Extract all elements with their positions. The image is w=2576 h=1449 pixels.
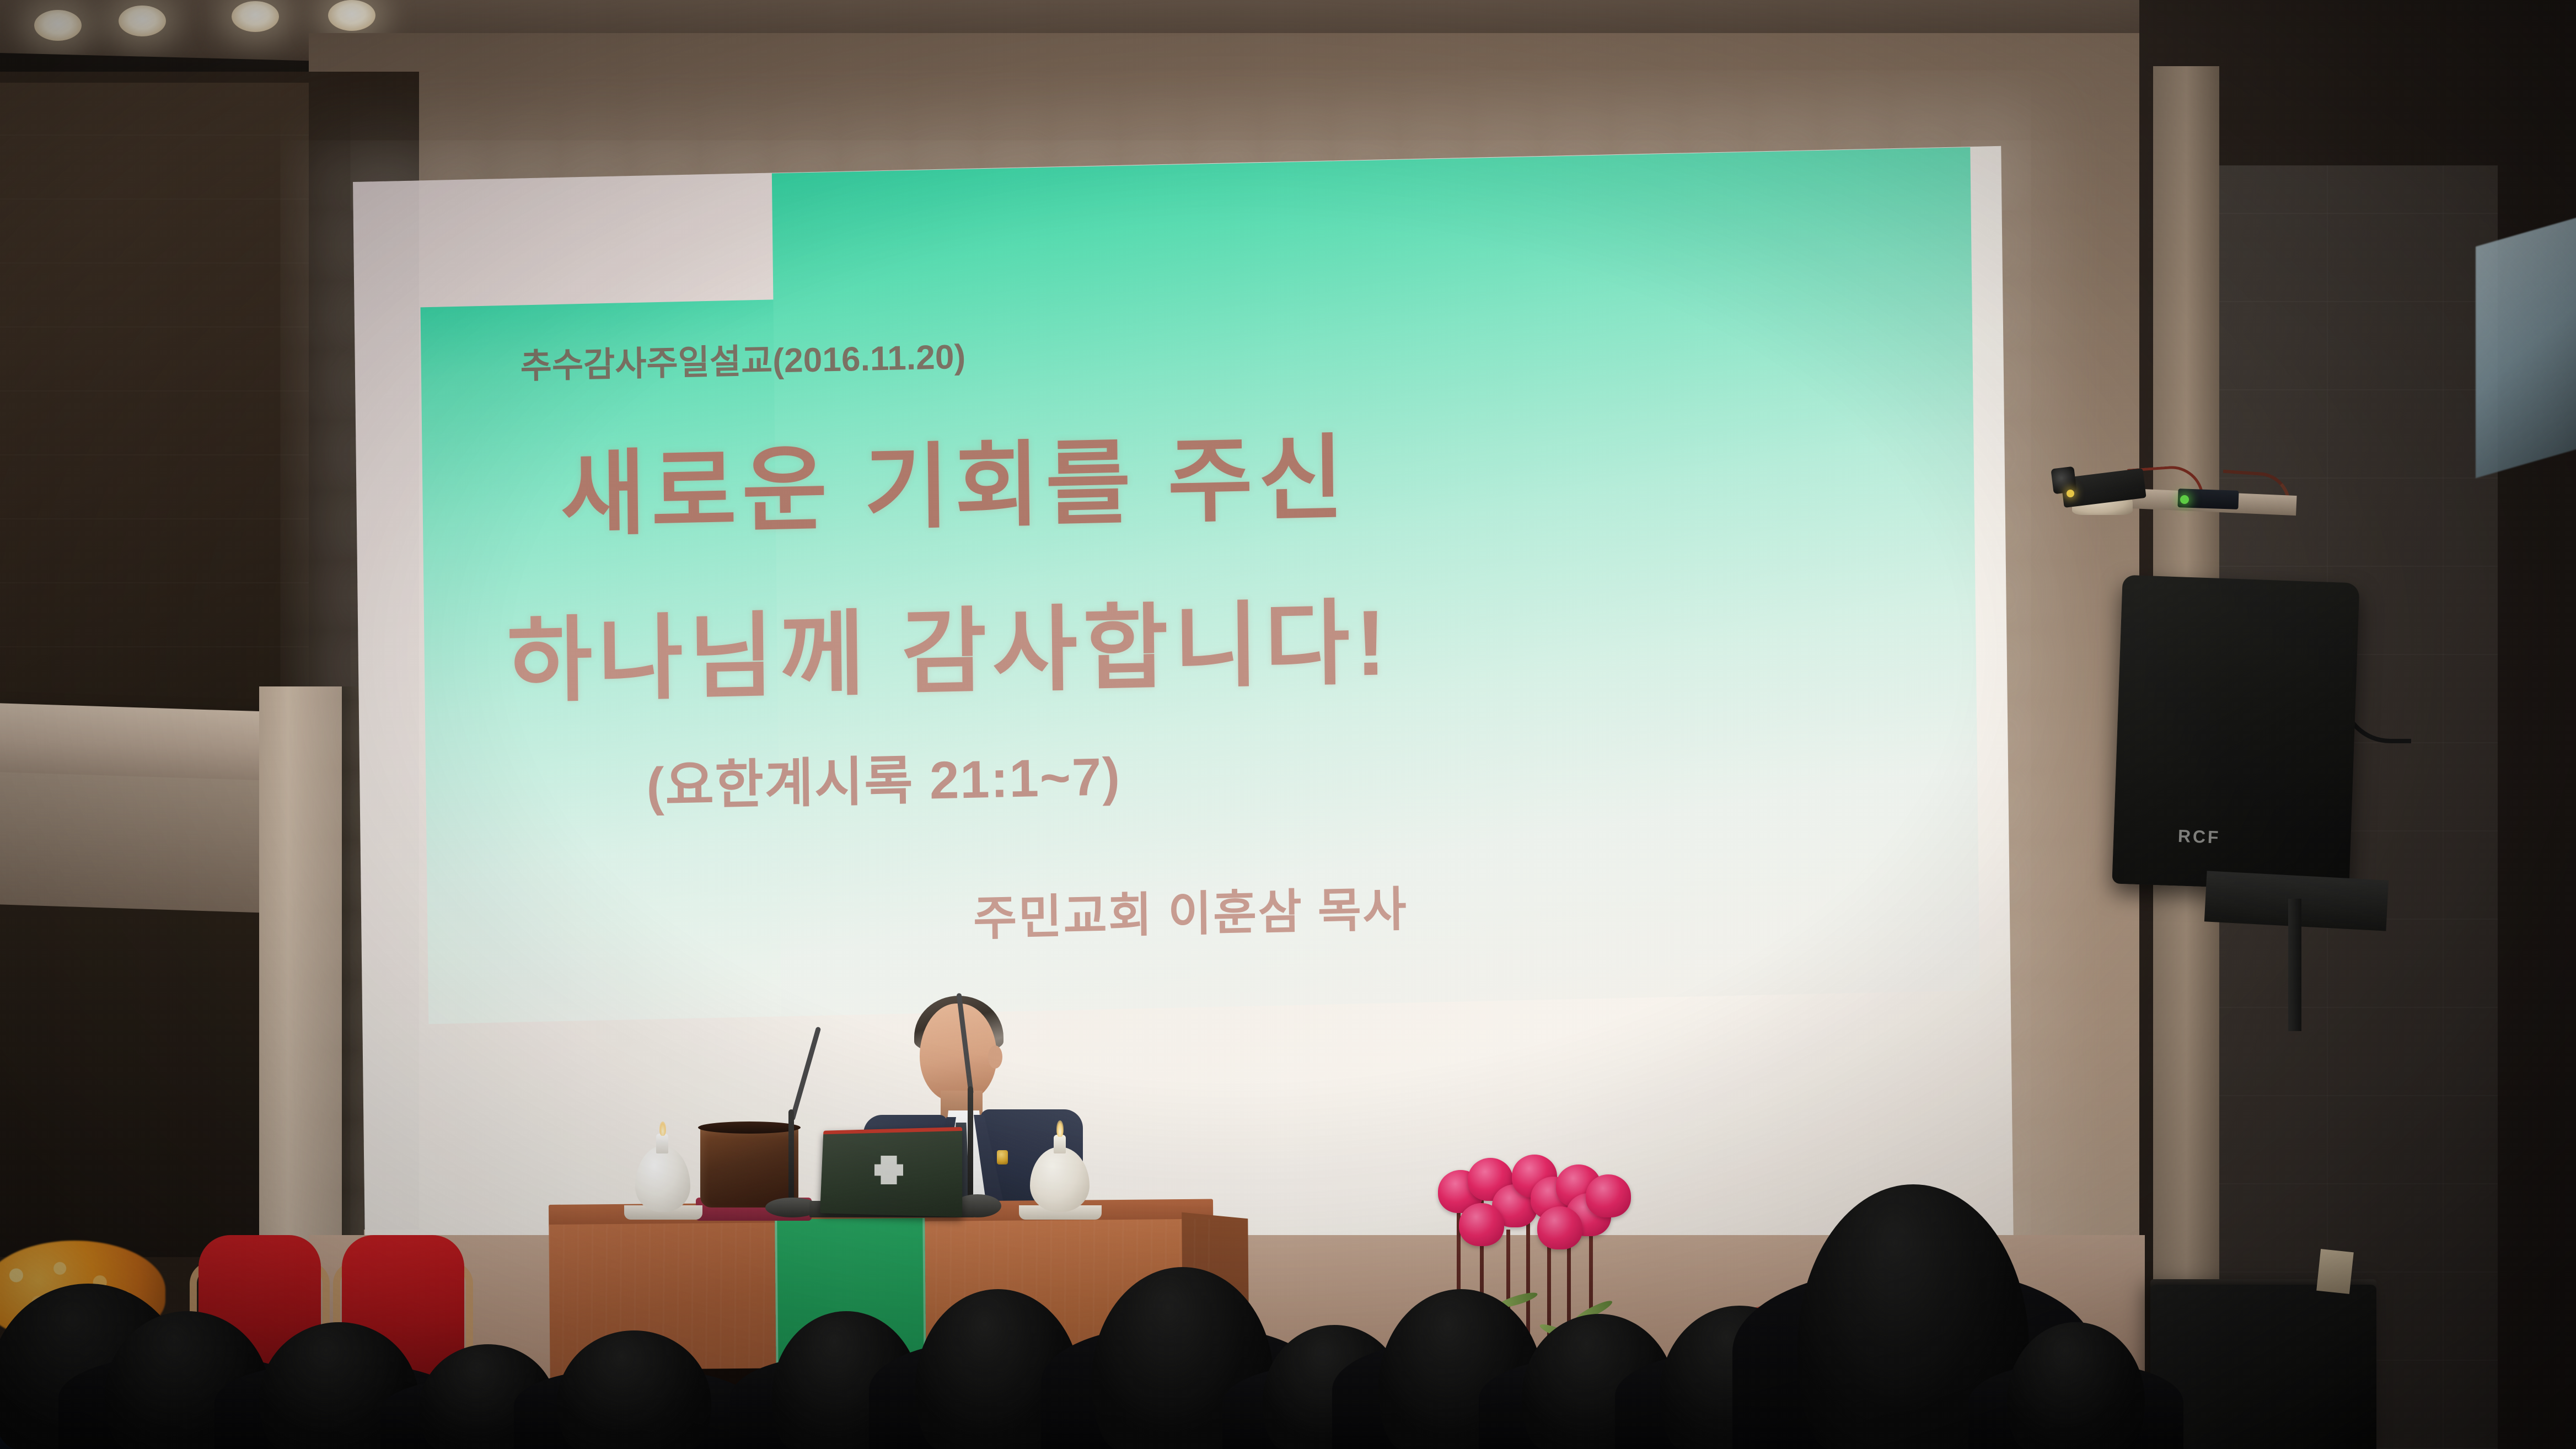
slide-text-layer: 추수감사주일설교(2016.11.20) 새로운 기회를 주신 하나님께 감사합…	[353, 146, 2014, 1285]
dark-wooden-bowl	[700, 1125, 798, 1207]
orchid-bloom-10	[1537, 1206, 1582, 1249]
floor-speaker	[2150, 1285, 2376, 1449]
slide-subtitle: 추수감사주일설교(2016.11.20)	[520, 329, 966, 388]
wall-speaker-brand-label: RCF	[2177, 826, 2244, 848]
slide-speaker-credit: 주민교회 이훈삼 목사	[973, 871, 1408, 949]
orchid-bloom-8	[1586, 1174, 1631, 1217]
candle-flame-left	[659, 1121, 666, 1136]
speaker-wedge	[2316, 1249, 2354, 1294]
slide-scripture-reference: (요한계시록 21:1~7)	[646, 733, 1121, 820]
downlight-1	[34, 10, 82, 41]
microphone-left-stem	[788, 1109, 794, 1209]
candle-vessel-left-neck	[656, 1134, 668, 1153]
balcony-underside	[0, 893, 287, 1257]
camera-indicator-light	[2067, 490, 2074, 497]
pastor-lapel-pin	[997, 1150, 1008, 1164]
left-column	[259, 686, 342, 1254]
pastor-head	[920, 1003, 997, 1102]
candle-flame-right	[1056, 1120, 1064, 1137]
microphone-right-stem	[968, 1086, 973, 1205]
orchid-bloom-9	[1459, 1203, 1504, 1246]
power-supply-led	[2180, 495, 2189, 504]
dark-wooden-bowl-rim	[698, 1121, 801, 1134]
downlight-2	[119, 6, 166, 36]
pastor-ear	[988, 1045, 1002, 1069]
right-window-strip	[2476, 217, 2576, 478]
candle-vessel-right-neck	[1054, 1135, 1066, 1153]
downlight-3	[232, 1, 279, 32]
wall-speaker-pole	[2288, 899, 2301, 1031]
sermon-photo-scene: 추수감사주일설교(2016.11.20) 새로운 기회를 주신 하나님께 감사합…	[0, 0, 2576, 1449]
balcony-face	[0, 772, 281, 913]
slide-title-line-1: 새로운 기회를 주신	[560, 403, 1350, 554]
downlight-4	[328, 0, 375, 31]
slide-title-line-2: 하나님께 감사합니다!	[506, 567, 1392, 721]
projection-area: 추수감사주일설교(2016.11.20) 새로운 기회를 주신 하나님께 감사합…	[353, 146, 2014, 1285]
left-brick-wall	[0, 83, 309, 711]
